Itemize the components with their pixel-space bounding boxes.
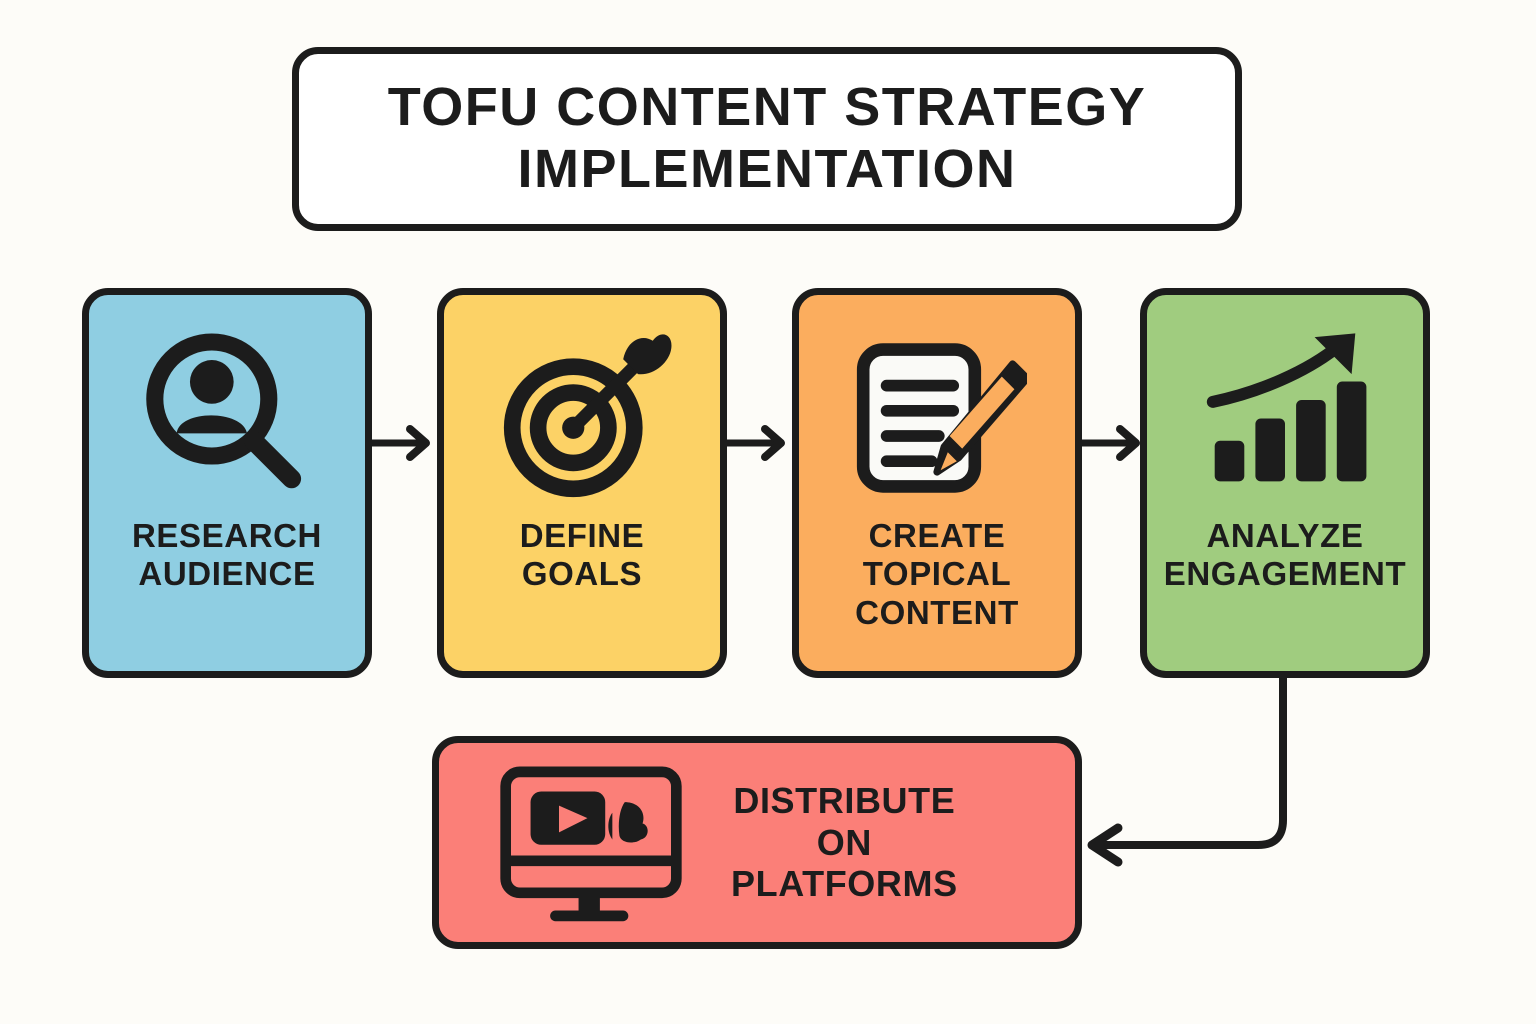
step-label-analyze-engagement: ANALYZE ENGAGEMENT <box>1164 517 1407 594</box>
title-line-1: TOFU CONTENT STRATEGY <box>388 77 1147 139</box>
connector-arrow-analyze-to-distribute <box>1060 660 1360 900</box>
step-node-distribute-on-platforms[interactable]: DISTRIBUTE ON PLATFORMS <box>432 736 1082 949</box>
target-arrow-icon <box>490 323 675 513</box>
flowchart-canvas: TOFU CONTENT STRATEGY IMPLEMENTATION RES… <box>0 0 1536 1024</box>
connector-arrow-goals-to-create <box>727 413 795 473</box>
monitor-play-thumbsup-icon <box>481 763 701 923</box>
step-label-research-audience: RESEARCH AUDIENCE <box>132 517 322 594</box>
connector-arrow-create-to-analyze <box>1082 413 1150 473</box>
step-label-define-goals: DEFINE GOALS <box>520 517 645 594</box>
title-line-2: IMPLEMENTATION <box>518 139 1017 201</box>
connector-arrow-research-to-goals <box>372 413 440 473</box>
document-pencil-icon <box>847 323 1027 513</box>
step-label-create-topical-content: CREATE TOPICAL CONTENT <box>855 517 1019 632</box>
step-node-research-audience[interactable]: RESEARCH AUDIENCE <box>82 288 372 678</box>
step-node-analyze-engagement[interactable]: ANALYZE ENGAGEMENT <box>1140 288 1430 678</box>
magnifier-person-icon <box>132 323 322 513</box>
step-label-distribute-on-platforms: DISTRIBUTE ON PLATFORMS <box>731 780 958 905</box>
step-node-create-topical-content[interactable]: CREATE TOPICAL CONTENT <box>792 288 1082 678</box>
page-title: TOFU CONTENT STRATEGY IMPLEMENTATION <box>292 47 1242 231</box>
step-node-define-goals[interactable]: DEFINE GOALS <box>437 288 727 678</box>
bar-chart-growth-icon <box>1190 323 1380 513</box>
